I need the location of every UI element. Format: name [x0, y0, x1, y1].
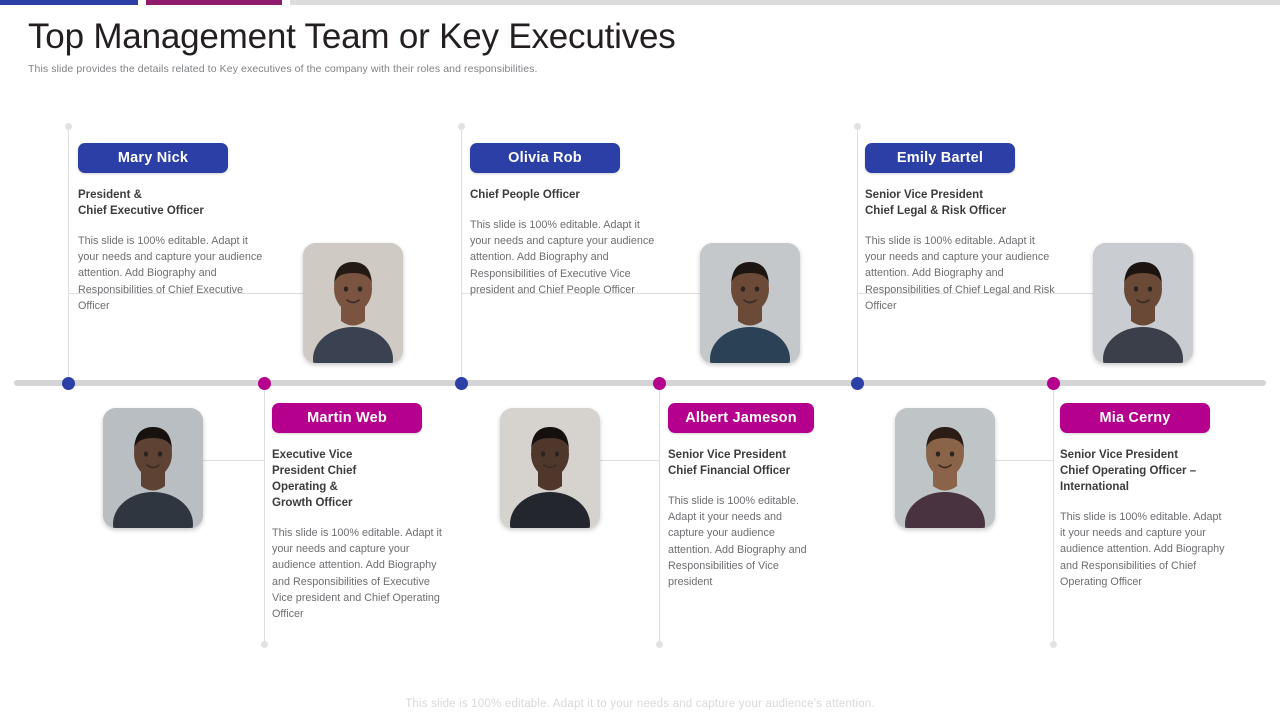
connector-vertical [1053, 383, 1054, 644]
executive-card: Olivia RobChief People OfficerThis slide… [470, 143, 660, 298]
executive-role: Senior Vice President Chief Legal & Risk… [865, 187, 1055, 219]
executive-description: This slide is 100% editable. Adapt it yo… [470, 217, 660, 298]
connector-vertical [461, 126, 462, 383]
page-subtitle: This slide provides the details related … [28, 62, 1258, 76]
executive-role: President & Chief Executive Officer [78, 187, 268, 219]
executive-description: This slide is 100% editable. Adapt it yo… [78, 233, 268, 314]
executive-description: This slide is 100% editable. Adapt it yo… [272, 525, 444, 622]
page-title: Top Management Team or Key Executives [28, 16, 1258, 58]
executive-card: Martin WebExecutive Vice President Chief… [272, 403, 462, 622]
top-accent-bar [0, 0, 1280, 5]
timeline-node-olivia-rob[interactable] [455, 377, 468, 390]
executive-role: Chief People Officer [470, 187, 660, 203]
executive-card: Mary NickPresident & Chief Executive Off… [78, 143, 268, 314]
connector-endcap [1050, 641, 1057, 648]
portrait-mary-nick [303, 243, 403, 363]
accent-segment-grey [290, 0, 1280, 5]
portrait-olivia-rob [700, 243, 800, 363]
timeline-node-mary-nick[interactable] [62, 377, 75, 390]
executive-role: Senior Vice President Chief Operating Of… [1060, 447, 1250, 495]
accent-segment-magenta [146, 0, 282, 5]
connector-endcap [656, 641, 663, 648]
executive-name-badge[interactable]: Mary Nick [78, 143, 228, 173]
executive-name-badge[interactable]: Olivia Rob [470, 143, 620, 173]
footer-note: This slide is 100% editable. Adapt it to… [0, 698, 1280, 710]
executive-description: This slide is 100% editable. Adapt it yo… [1060, 509, 1228, 590]
connector-vertical [68, 126, 69, 383]
timeline-axis [14, 380, 1266, 386]
portrait-mia-cerny [895, 408, 995, 528]
connector-vertical [264, 383, 265, 644]
accent-segment-blue [0, 0, 138, 5]
connector-endcap [854, 123, 861, 130]
executive-card: Emily BartelSenior Vice President Chief … [865, 143, 1055, 314]
executive-role: Senior Vice President Chief Financial Of… [668, 447, 858, 479]
slide-header: Top Management Team or Key Executives Th… [28, 16, 1258, 76]
executive-description: This slide is 100% editable. Adapt it yo… [668, 493, 816, 590]
executive-name-badge[interactable]: Mia Cerny [1060, 403, 1210, 433]
executive-name-badge[interactable]: Albert Jameson [668, 403, 814, 433]
timeline-node-emily-bartel[interactable] [851, 377, 864, 390]
portrait-albert-jameson [500, 408, 600, 528]
executive-card: Albert JamesonSenior Vice President Chie… [668, 403, 858, 590]
timeline-node-albert-jameson[interactable] [653, 377, 666, 390]
connector-endcap [261, 641, 268, 648]
executive-description: This slide is 100% editable. Adapt it yo… [865, 233, 1055, 314]
connector-endcap [458, 123, 465, 130]
connector-vertical [857, 126, 858, 383]
executive-role: Executive Vice President Chief Operating… [272, 447, 462, 511]
timeline-node-mia-cerny[interactable] [1047, 377, 1060, 390]
portrait-martin-web [103, 408, 203, 528]
executive-name-badge[interactable]: Martin Web [272, 403, 422, 433]
connector-endcap [65, 123, 72, 130]
connector-vertical [659, 383, 660, 644]
portrait-emily-bartel [1093, 243, 1193, 363]
executive-name-badge[interactable]: Emily Bartel [865, 143, 1015, 173]
executive-card: Mia CernySenior Vice President Chief Ope… [1060, 403, 1250, 590]
timeline-node-martin-web[interactable] [258, 377, 271, 390]
